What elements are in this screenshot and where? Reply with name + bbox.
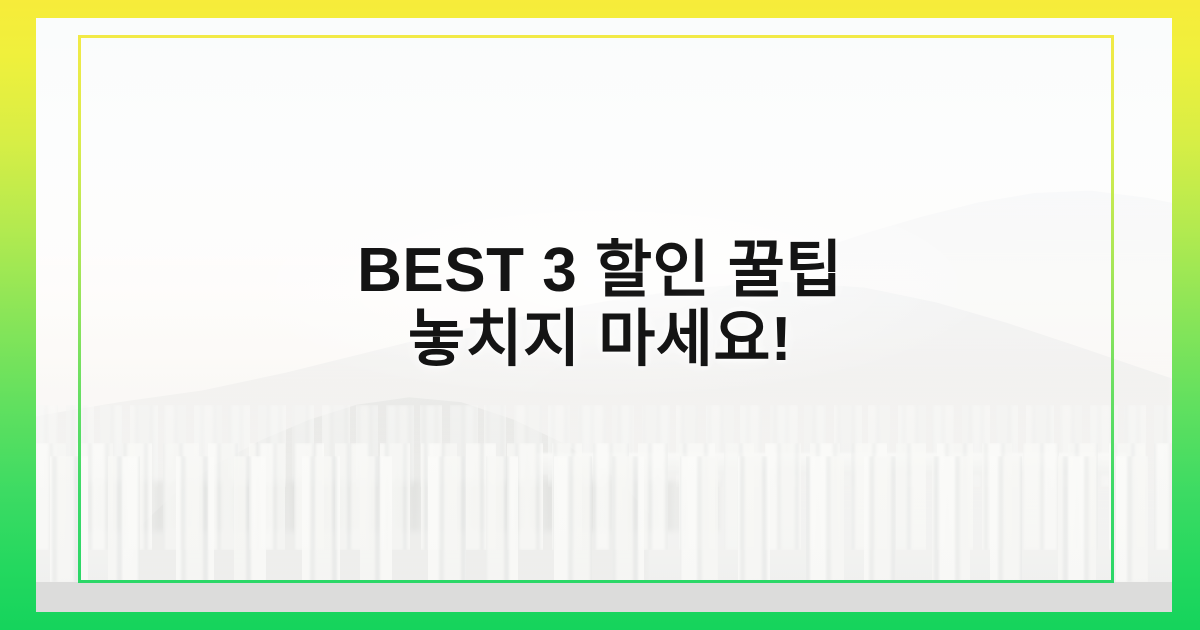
banner-canvas: BEST 3 할인 꿀팁 놓치지 마세요!: [0, 0, 1200, 630]
photo-stage: [36, 18, 1172, 612]
background-photo: [36, 18, 1172, 582]
plate-footer-strip: [36, 582, 1172, 612]
headline-bloom: [195, 165, 1013, 402]
